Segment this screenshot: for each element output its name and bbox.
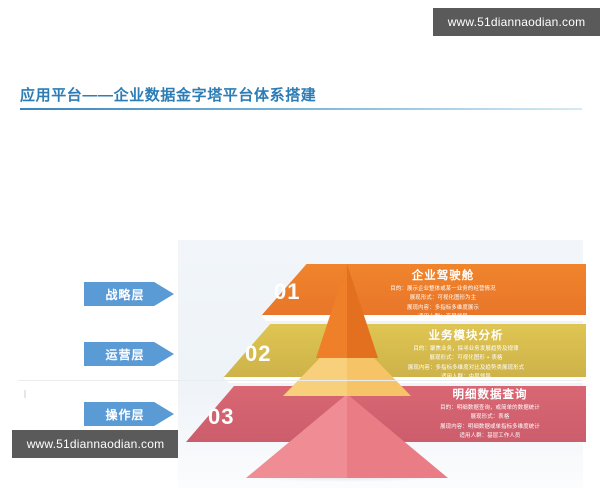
pyramid-tier-1-line-audience: 适用人群：高层领导 <box>363 313 523 322</box>
pyramid-tier-3-line-format: 展现形式：表格 <box>410 413 570 422</box>
pyramid-tier-2-line-content: 展现内容：多指标多维度对比及趋势类展现形式 <box>386 364 546 373</box>
pyramid-tier-3-line-purpose: 目的：明细数据查询，或简单的数据统计 <box>410 404 570 413</box>
watermark-top: www.51diannaodian.com <box>433 8 600 36</box>
pyramid-tier-1-line-format: 展现形式：可视化图形为主 <box>363 294 523 303</box>
page-title: 应用平台——企业数据金字塔平台体系搭建 <box>20 84 316 105</box>
pyramid-tier-2-line-purpose: 目的：聚焦业务，探寻业务发展趋势及规律 <box>386 345 546 354</box>
slide-content-panel: 战略层 运营层 操作层 01 02 03 企业驾驶舱 目的：展示企业整体或某一业… <box>18 118 582 381</box>
pyramid-tier-2-line-audience: 适用人群：中层领导 <box>386 373 546 382</box>
pyramid-tier-2-heading: 业务模块分析 <box>386 327 546 343</box>
pyramid-tier-1-number: 01 <box>274 279 300 305</box>
watermark-bottom: www.51diannaodian.com <box>12 430 179 458</box>
title-block: 应用平台——企业数据金字塔平台体系搭建 <box>0 84 600 110</box>
pyramid-tier-1-textblock: 企业驾驶舱 目的：展示企业整体或某一业务的经营情况 展现形式：可视化图形为主 展… <box>363 267 523 323</box>
footer-tick-mark <box>24 390 26 398</box>
pyramid-tier-3-line-audience: 适用人群：基层工作人员 <box>410 432 570 441</box>
pyramid-tier-2-textblock: 业务模块分析 目的：聚焦业务，探寻业务发展趋势及规律 展现形式：可视化图形 + … <box>386 327 546 383</box>
pyramid-tier-2-number: 02 <box>245 341 271 367</box>
layer-arrow-execution[interactable]: 操作层 <box>84 402 174 426</box>
pyramid-tier-3-textblock: 明细数据查询 目的：明细数据查询，或简单的数据统计 展现形式：表格 展现内容：明… <box>410 386 570 442</box>
pyramid-tier-3-heading: 明细数据查询 <box>410 386 570 402</box>
title-underline-rule <box>20 108 582 110</box>
layer-arrow-operation[interactable]: 运营层 <box>84 342 174 366</box>
pyramid-tier-3-number: 03 <box>208 404 234 430</box>
layer-arrow-strategy[interactable]: 战略层 <box>84 282 174 306</box>
pyramid-tier-3-line-content: 展现内容：明细数据或单指标多维度统计 <box>410 423 570 432</box>
pyramid-tier-1-line-purpose: 目的：展示企业整体或某一业务的经营情况 <box>363 285 523 294</box>
pyramid-tier-1-line-content: 展现内容：多指标多维度展示 <box>363 304 523 313</box>
pyramid-tier-2-line-format: 展现形式：可视化图形 + 表格 <box>386 354 546 363</box>
pyramid-tier-1-heading: 企业驾驶舱 <box>363 267 523 283</box>
pyramid-core-top-left-face <box>316 264 347 358</box>
footer-divider <box>18 380 582 381</box>
